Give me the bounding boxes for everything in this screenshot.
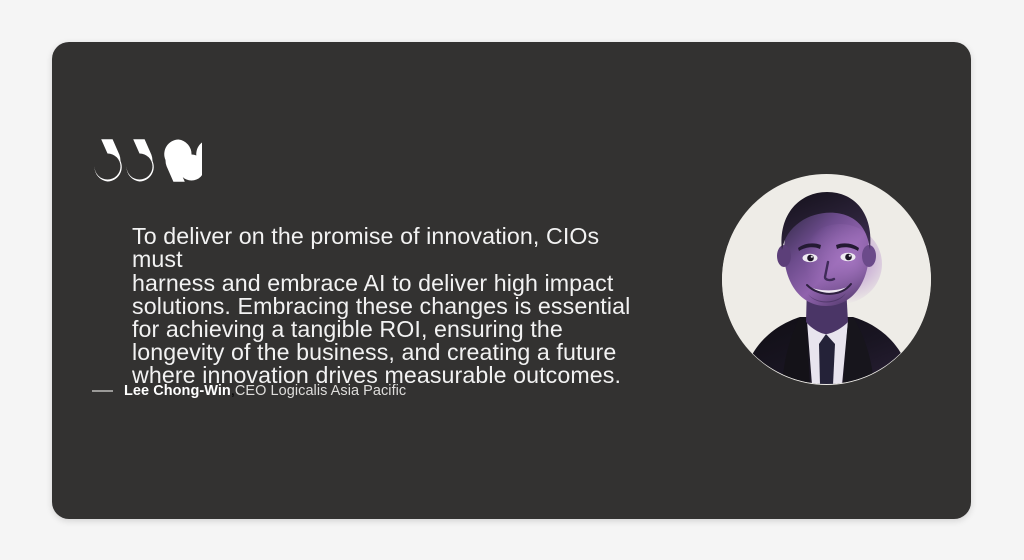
- quotation-marks-icon: [92, 138, 202, 184]
- portrait-image: [722, 174, 931, 385]
- attribution-dash-icon: [92, 390, 113, 392]
- quote-glyphs-svg: [92, 138, 202, 184]
- quote-attribution: Lee Chong-Win , CEO Logicalis Asia Pacif…: [92, 382, 406, 400]
- attribution-name: Lee Chong-Win: [124, 382, 231, 400]
- attribution-role: CEO Logicalis Asia Pacific: [235, 382, 406, 400]
- avatar: [722, 174, 931, 385]
- page-canvas: To deliver on the promise of innovation,…: [0, 0, 1024, 560]
- quote-text: To deliver on the promise of innovation,…: [132, 225, 642, 387]
- quote-card: To deliver on the promise of innovation,…: [52, 42, 971, 519]
